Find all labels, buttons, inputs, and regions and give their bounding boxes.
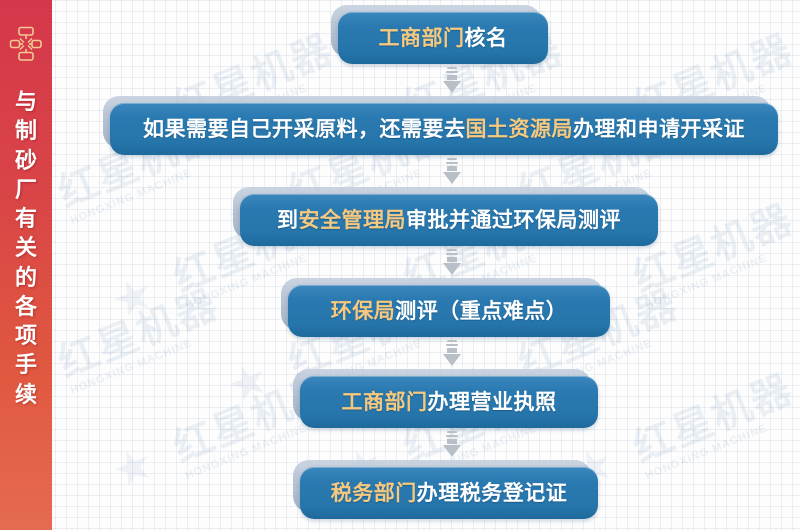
arrow-dash: [447, 340, 457, 342]
node-body[interactable]: 如果需要自己开采原料，还需要去国土资源局办理和申请开采证: [110, 103, 778, 155]
flow-arrow-down-icon: [443, 340, 461, 366]
node-label-rest: 审批并通过环保局测评: [406, 208, 621, 232]
node-label-rest: 核名: [465, 26, 508, 50]
flowchart-node[interactable]: 工商部门核名: [338, 12, 548, 64]
arrow-dash: [446, 344, 458, 346]
node-label: 工商部门办理营业执照: [342, 392, 557, 413]
arrow-dash: [446, 435, 458, 437]
arrow-dash: [447, 158, 457, 160]
arrow-stem: [447, 166, 457, 171]
node-label-rest: 办理税务登记证: [417, 481, 568, 505]
arrow-dash: [447, 431, 457, 433]
arrow-dash: [446, 253, 458, 255]
node-label-highlight: 工商部门: [342, 390, 428, 414]
sidebar-title: 与制砂厂有关的各项手续: [9, 88, 43, 410]
arrow-stem: [447, 257, 457, 262]
arrow-head: [443, 263, 461, 275]
node-body[interactable]: 环保局测评（重点难点）: [288, 285, 610, 337]
flow-arrow-down-icon: [443, 158, 461, 184]
node-label-highlight: 国土资源局: [466, 117, 574, 141]
node-label-highlight: 税务部门: [331, 481, 417, 505]
node-label: 如果需要自己开采原料，还需要去国土资源局办理和申请开采证: [143, 119, 745, 140]
flowchart-node[interactable]: 环保局测评（重点难点）: [288, 285, 610, 337]
node-label-highlight: 安全管理局: [299, 208, 407, 232]
arrow-dash: [447, 249, 457, 251]
node-body[interactable]: 工商部门核名: [338, 12, 548, 64]
arrow-head: [443, 172, 461, 184]
node-label: 环保局测评（重点难点）: [331, 301, 568, 322]
arrow-dash: [446, 71, 458, 73]
flow-arrow-down-icon: [443, 249, 461, 275]
node-label: 税务部门办理税务登记证: [331, 483, 568, 504]
flowchart-nodes-layer: 工商部门核名如果需要自己开采原料，还需要去国土资源局办理和申请开采证到安全管理局…: [52, 0, 800, 530]
node-label-prefix: 如果需要自己开采原料，还需要去: [143, 117, 466, 141]
flowchart-node[interactable]: 如果需要自己开采原料，还需要去国土资源局办理和申请开采证: [110, 103, 778, 155]
node-body[interactable]: 工商部门办理营业执照: [300, 376, 598, 428]
flow-arrow-down-icon: [443, 431, 461, 457]
flow-arrow-down-icon: [443, 67, 461, 93]
node-label-rest: 测评（重点难点）: [395, 299, 567, 323]
node-body[interactable]: 到安全管理局审批并通过环保局测评: [240, 194, 658, 246]
node-label-prefix: 到: [277, 208, 299, 232]
node-label: 工商部门核名: [379, 28, 508, 49]
arrow-dash: [447, 67, 457, 69]
flowchart-canvas: 红星机器HONGXING MACHINE★红星机器HONGXING MACHIN…: [0, 0, 800, 530]
node-label-highlight: 环保局: [331, 299, 396, 323]
node-body[interactable]: 税务部门办理税务登记证: [300, 467, 598, 519]
flowchart-node[interactable]: 税务部门办理税务登记证: [300, 467, 598, 519]
arrow-head: [443, 354, 461, 366]
arrow-head: [443, 81, 461, 93]
node-label-rest: 办理营业执照: [428, 390, 557, 414]
arrow-dash: [446, 162, 458, 164]
sidebar-banner: 与制砂厂有关的各项手续: [0, 0, 52, 530]
arrow-stem: [447, 75, 457, 80]
arrow-head: [443, 445, 461, 457]
node-label: 到安全管理局审批并通过环保局测评: [277, 210, 621, 231]
flowchart-node[interactable]: 到安全管理局审批并通过环保局测评: [240, 194, 658, 246]
flowchart-node[interactable]: 工商部门办理营业执照: [300, 376, 598, 428]
arrow-stem: [447, 348, 457, 353]
arrow-stem: [447, 439, 457, 444]
flowchart-network-icon: [9, 26, 43, 62]
node-label-rest: 办理和申请开采证: [573, 117, 745, 141]
node-label-highlight: 工商部门: [379, 26, 465, 50]
